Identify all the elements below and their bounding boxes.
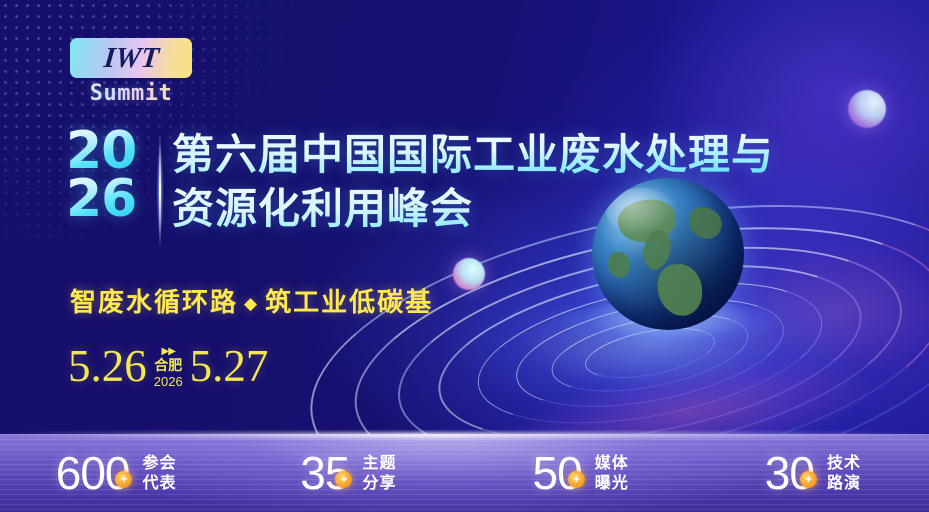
- stat-label: 媒体 曝光: [595, 453, 629, 492]
- date-end: 5.27: [190, 340, 269, 392]
- stats-bar: 600 + 参会 代表 35 + 主题 分享 50 + 媒体 曝光 30 +: [0, 434, 929, 512]
- iwt-summit-logo: IWT Summit: [70, 38, 192, 106]
- city-year: 2026: [154, 375, 183, 390]
- globe-landmass: [655, 262, 704, 318]
- stat-label: 主题 分享: [362, 453, 396, 492]
- slogan-right: 筑工业低碳基: [265, 288, 433, 318]
- slogan-left: 智废水循环路: [70, 288, 238, 318]
- event-poster: IWT Summit 20 26 第六届中国国际工业废水处理与 资源化利用峰会 …: [0, 0, 929, 512]
- double-arrow-icon: ▶▶: [162, 346, 175, 357]
- stat-item: 30 + 技术 路演: [697, 450, 929, 496]
- stat-item: 35 + 主题 分享: [232, 450, 464, 496]
- city-name: 合肥: [154, 358, 183, 374]
- event-location-block: ▶▶ 合肥 2026: [151, 342, 186, 389]
- title-line-2: 资源化利用峰会: [172, 182, 774, 236]
- vertical-light-divider: [155, 126, 165, 256]
- event-date-row: 5.26 ▶▶ 合肥 2026 5.27: [68, 340, 268, 392]
- stat-label-line-2: 分享: [362, 473, 396, 493]
- globe-landmass: [608, 252, 630, 278]
- logo-badge: IWT: [70, 38, 192, 78]
- logo-mark-text: IWT: [102, 42, 160, 75]
- stat-item: 600 + 参会 代表: [0, 450, 232, 496]
- stat-plus-badge: +: [335, 471, 352, 488]
- logo-subtext: Summit: [70, 81, 192, 106]
- date-start: 5.26: [68, 340, 147, 392]
- event-year: 20 26: [66, 128, 136, 224]
- decorative-orb-icon: [453, 258, 485, 290]
- stat-plus-badge: +: [800, 471, 817, 488]
- stat-label-line-1: 媒体: [595, 453, 629, 473]
- event-slogan: 智废水循环路◆筑工业低碳基: [70, 282, 433, 319]
- title-line-1: 第六届中国国际工业废水处理与: [172, 128, 774, 182]
- stat-item: 50 + 媒体 曝光: [465, 450, 697, 496]
- page-title: 第六届中国国际工业废水处理与 资源化利用峰会: [172, 128, 774, 236]
- stat-plus-badge: +: [568, 471, 585, 488]
- stat-label-line-2: 代表: [142, 473, 176, 493]
- stat-label-line-1: 参会: [142, 453, 176, 473]
- stat-label-line-1: 主题: [362, 453, 396, 473]
- stat-label-line-2: 曝光: [595, 473, 629, 493]
- decorative-orb-icon: [848, 90, 886, 128]
- stat-label: 技术 路演: [827, 453, 861, 492]
- slogan-separator-icon: ◆: [238, 294, 265, 314]
- stat-label-line-1: 技术: [827, 453, 861, 473]
- stat-plus-badge: +: [115, 471, 132, 488]
- stat-label: 参会 代表: [142, 453, 176, 492]
- stat-label-line-2: 路演: [827, 473, 861, 493]
- year-bottom: 26: [66, 176, 136, 224]
